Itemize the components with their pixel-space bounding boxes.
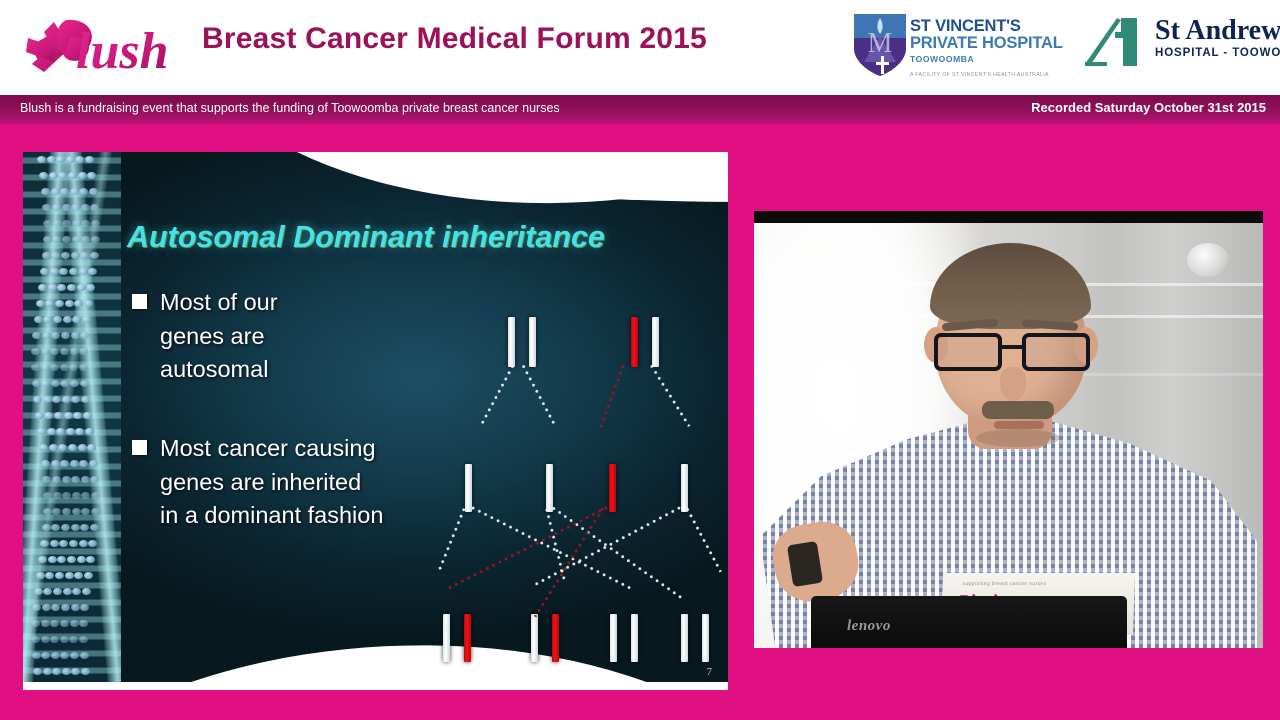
st-vincents-line1: ST VINCENT'S [910,18,1063,35]
dna-base-pair [71,252,80,259]
inheritance-connector [685,506,722,573]
dna-base-pair [79,364,88,371]
bullet-square-icon [132,440,147,455]
dna-base-pair [53,316,62,323]
st-vincents-line3: TOOWOOMBA [910,53,1063,65]
dna-base-pair [91,220,100,227]
dna-base-pair [85,428,94,435]
dna-base-pair [89,460,98,467]
inheritance-connector [521,363,556,424]
allele-bar-normal [443,614,450,662]
dna-base-pair [77,556,86,563]
page-header: lush Breast Cancer Medical Forum 2015 M … [0,0,1280,95]
dna-base-pair [81,668,90,675]
info-banner: Blush is a fundraising event that suppor… [0,95,1280,124]
dna-base-pair [63,588,72,595]
dna-base-pair [32,652,41,659]
dna-base-pair [72,492,81,499]
dna-base-pair [34,316,43,323]
dna-base-pair [42,252,51,259]
slide-bottom-edge [23,682,728,690]
dna-base-pair [82,588,91,595]
dna-helix-graphic [23,152,121,690]
dna-base-pair [82,316,91,323]
st-andrews-text: St Andrew's HOSPITAL - TOOWOOMBA [1155,16,1280,60]
allele-bar-normal [631,614,638,662]
slide-bullet-1: Most of our genes are autosomal [160,286,330,387]
dna-base-pair [60,636,69,643]
dna-base-pair [43,236,52,243]
dna-base-pair [50,540,59,547]
dna-base-pair [70,620,79,627]
dna-base-pair [72,236,81,243]
dna-base-pair [90,252,99,259]
speaker-moustache [982,401,1054,419]
st-vincents-private-hospital-logo: M ST VINCENT'S PRIVATE HOSPITAL TOOWOOMB… [852,8,1064,88]
dna-base-pair [69,540,78,547]
dna-base-pair [48,284,57,291]
dna-base-pair [31,364,40,371]
dna-base-pair [51,460,60,467]
dna-base-pair [62,396,71,403]
dna-base-pair [52,204,61,211]
dna-base-pair [34,588,43,595]
dna-base-pair [62,476,71,483]
dna-base-pair [72,220,81,227]
dna-base-pair [77,284,86,291]
dna-base-pair [70,652,79,659]
dna-base-pair [51,652,60,659]
dna-base-pair [81,476,90,483]
dna-base-pair [33,668,42,675]
page-root: lush Breast Cancer Medical Forum 2015 M … [0,0,1280,720]
dna-base-pair [61,252,70,259]
dna-base-pair [62,236,71,243]
dna-base-pair [41,364,50,371]
speaker-chin [976,429,1060,447]
dna-base-pair [54,412,63,419]
speaker-mouth [994,421,1044,429]
svg-text:lush: lush [76,23,169,80]
dna-base-pair [84,300,93,307]
allele-bar-mutant [464,614,471,662]
dna-base-pair [91,236,100,243]
dna-base-pair [62,204,71,211]
dna-base-pair [78,444,87,451]
dna-base-pair [84,572,93,579]
dna-base-pair [41,620,50,627]
dna-base-pair [85,156,94,163]
dna-base-pair [83,412,92,419]
dna-base-pair [42,524,51,531]
inheritance-connector [534,506,605,618]
dna-base-pair [79,636,88,643]
slide-bullet-2-text: Most cancer causing genes are inherited … [160,435,383,528]
dna-base-pair [71,604,80,611]
dna-base-pair [91,508,100,515]
dna-base-pair [61,332,70,339]
dna-base-pair [79,268,88,275]
video-top-bar [754,211,1263,223]
dna-base-pair [90,524,99,531]
dna-base-pair [80,380,89,387]
svg-text:M: M [868,28,893,59]
dna-base-pair [48,556,57,563]
dna-base-pair [71,524,80,531]
dna-base-pair [42,332,51,339]
lectern-sign-subtext: supporting breast cancer nurses [963,581,1047,587]
st-vincents-text: ST VINCENT'S PRIVATE HOSPITAL TOOWOOMBA … [910,18,1063,78]
dna-base-pair [43,396,52,403]
dna-base-pair [50,268,59,275]
dna-base-pair [32,380,41,387]
allele-bar-normal [610,614,617,662]
dna-base-pair [71,332,80,339]
dna-base-pair [36,300,45,307]
st-andrews-mark-icon [1077,16,1151,68]
dna-base-pair [66,428,75,435]
dna-base-pair [52,476,61,483]
presenter-remote [787,541,823,587]
laptop: lenovo [811,596,1127,648]
dna-base-pair [70,188,79,195]
allele-bar-mutant [631,317,638,367]
allele-bar-normal [531,614,538,662]
allele-bar-mutant [609,464,616,512]
dna-base-pair [53,588,62,595]
slide-title: Autosomal Dominant inheritance [127,220,605,255]
laptop-brand-label: lenovo [847,618,891,635]
dna-base-pair [79,540,88,547]
dna-base-pair [70,348,79,355]
dna-base-pair [63,316,72,323]
dna-base-pair [67,556,76,563]
dna-base-pair [70,460,79,467]
allele-bar-mutant [552,614,559,662]
dna-base-pair [49,172,58,179]
inheritance-connector [448,505,610,589]
dna-base-pair [78,172,87,179]
dna-base-pair [43,508,52,515]
dna-base-pair [35,412,44,419]
slide-bullet-1-text: Most of our genes are autosomal [160,289,278,382]
dna-base-pair [53,492,62,499]
dna-base-pair [65,300,74,307]
dna-base-pair [43,220,52,227]
dna-base-pair [81,396,90,403]
dna-base-pair [49,444,58,451]
allele-bar-normal [681,614,688,662]
dna-base-pair [62,668,71,675]
blush-logo: lush [18,8,203,86]
dna-base-pair [31,636,40,643]
inheritance-connector [437,506,467,574]
st-vincents-line2: PRIVATE HOSPITAL [910,35,1063,52]
dna-base-pair [62,508,71,515]
page-title: Breast Cancer Medical Forum 2015 [202,22,707,56]
dna-base-pair [36,572,45,579]
inheritance-connector [649,363,691,427]
dna-base-pair [42,604,51,611]
dna-base-pair [80,652,89,659]
dna-base-pair [64,412,73,419]
bullet-square-icon [132,294,147,309]
dna-base-pair [60,620,69,627]
dna-base-pair [47,428,56,435]
dna-base-pair [43,668,52,675]
dna-base-pair [41,348,50,355]
dna-base-pair [37,156,46,163]
presentation-video[interactable]: supporting breast cancer nurses Blush le… [754,211,1263,648]
dna-base-pair [61,604,70,611]
dna-base-pair [53,220,62,227]
dna-base-pair [37,428,46,435]
dna-base-pair [69,268,78,275]
dna-base-pair [66,156,75,163]
dna-base-pair [43,492,52,499]
allele-bar-normal [508,317,515,367]
dna-base-pair [51,188,60,195]
dna-base-pair [72,508,81,515]
dna-base-pair [91,492,100,499]
dna-base-pair [33,396,42,403]
inheritance-connector [599,363,625,428]
st-vincents-line4: A FACILITY OF ST VINCENT'S HEALTH AUSTRA… [910,72,1063,78]
banner-message: Blush is a fundraising event that suppor… [20,101,560,115]
dna-base-pair [47,156,56,163]
allele-bar-normal [702,614,709,662]
autosomal-dominant-pedigree-diagram [418,292,718,657]
dna-base-pair [70,380,79,387]
dna-base-pair [60,348,69,355]
allele-bar-normal [652,317,659,367]
slide-bullet-2: Most cancer causing genes are inherited … [160,432,385,533]
dna-base-pair [68,172,77,179]
dna-base-pair [60,364,69,371]
dna-base-pair [41,188,50,195]
allele-bar-normal [529,317,536,367]
dna-base-pair [61,524,70,531]
ceiling-light-icon [1187,243,1229,277]
dna-base-pair [67,284,76,291]
st-andrews-line1: St Andrew's [1155,16,1280,46]
dna-base-pair [65,572,74,579]
dna-base-pair [89,188,98,195]
presentation-slide[interactable]: Autosomal Dominant inheritance Most of o… [23,152,728,690]
inheritance-connector [480,363,516,426]
inheritance-connector [550,505,683,599]
dna-base-pair [81,204,90,211]
dna-base-pair [68,444,77,451]
slide-page-number: 7 [707,666,713,678]
video-scene: supporting breast cancer nurses Blush le… [754,223,1263,648]
st-vincents-shield-icon: M [852,12,908,78]
banner-recorded-date: Recorded Saturday October 31st 2015 [1031,100,1266,115]
dna-base-pair [41,636,50,643]
st-andrews-line2: HOSPITAL - TOOWOOMBA [1155,46,1280,60]
dna-base-pair [41,460,50,467]
st-andrews-hospital-logo: St Andrew's HOSPITAL - TOOWOOMBA [1077,16,1273,78]
dna-base-pair [51,380,60,387]
speaker-nose [1000,367,1026,401]
